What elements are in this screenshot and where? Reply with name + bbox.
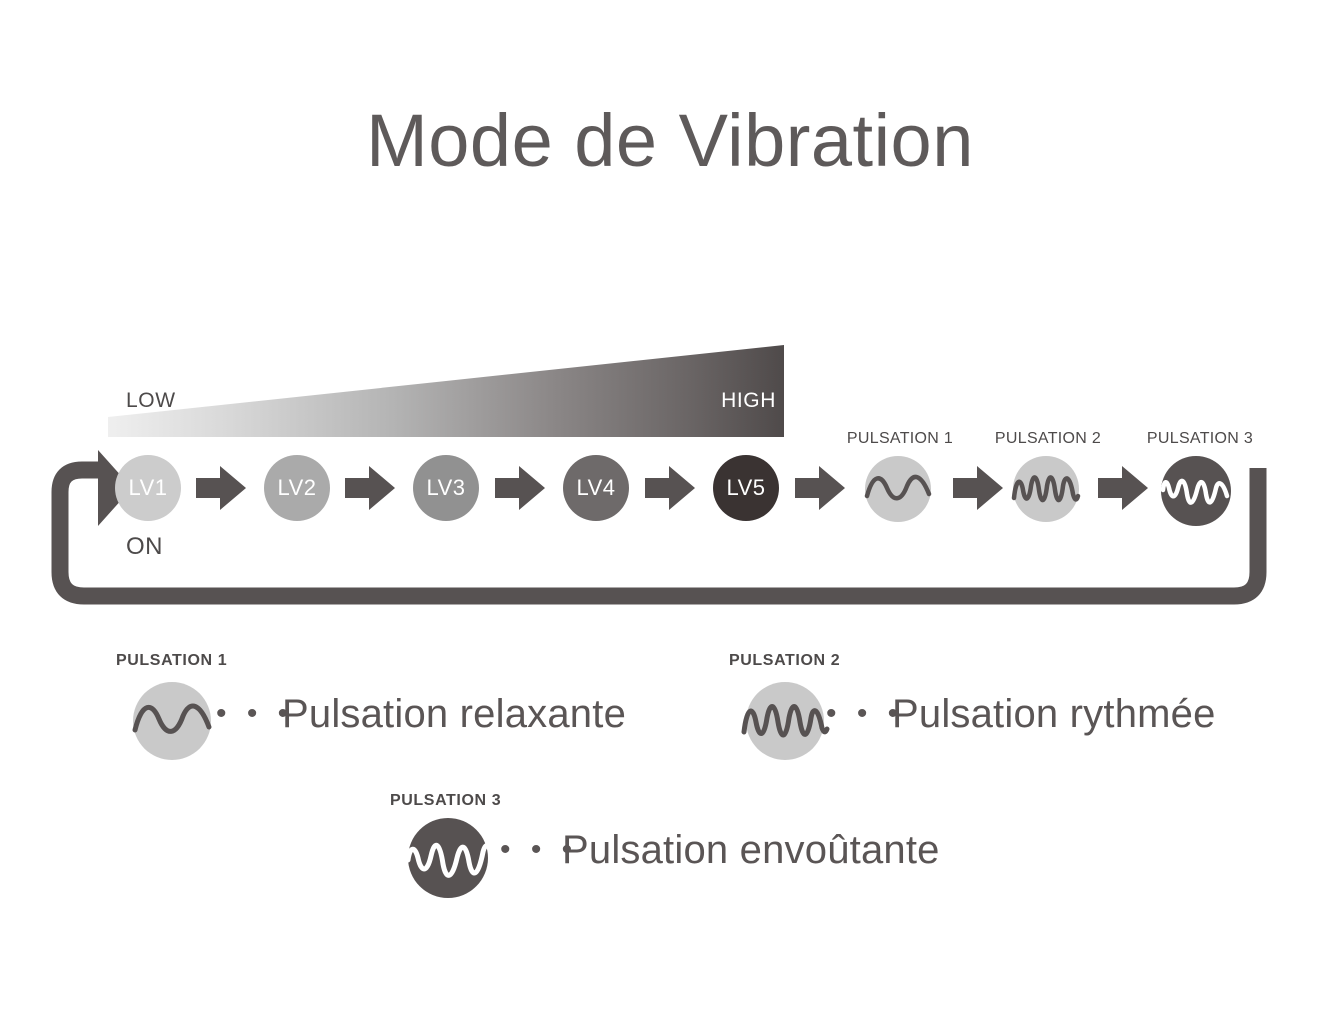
legend-tag: PULSATION 3	[390, 792, 501, 810]
wave-ramp-icon	[404, 818, 496, 898]
legend-item-pulsation-3: PULSATION 3 • • • Pulsation envoûtante	[0, 0, 1340, 1020]
infographic-root: Mode de Vibration LOW HIGH	[0, 0, 1340, 1020]
legend-description: Pulsation envoûtante	[562, 828, 940, 873]
